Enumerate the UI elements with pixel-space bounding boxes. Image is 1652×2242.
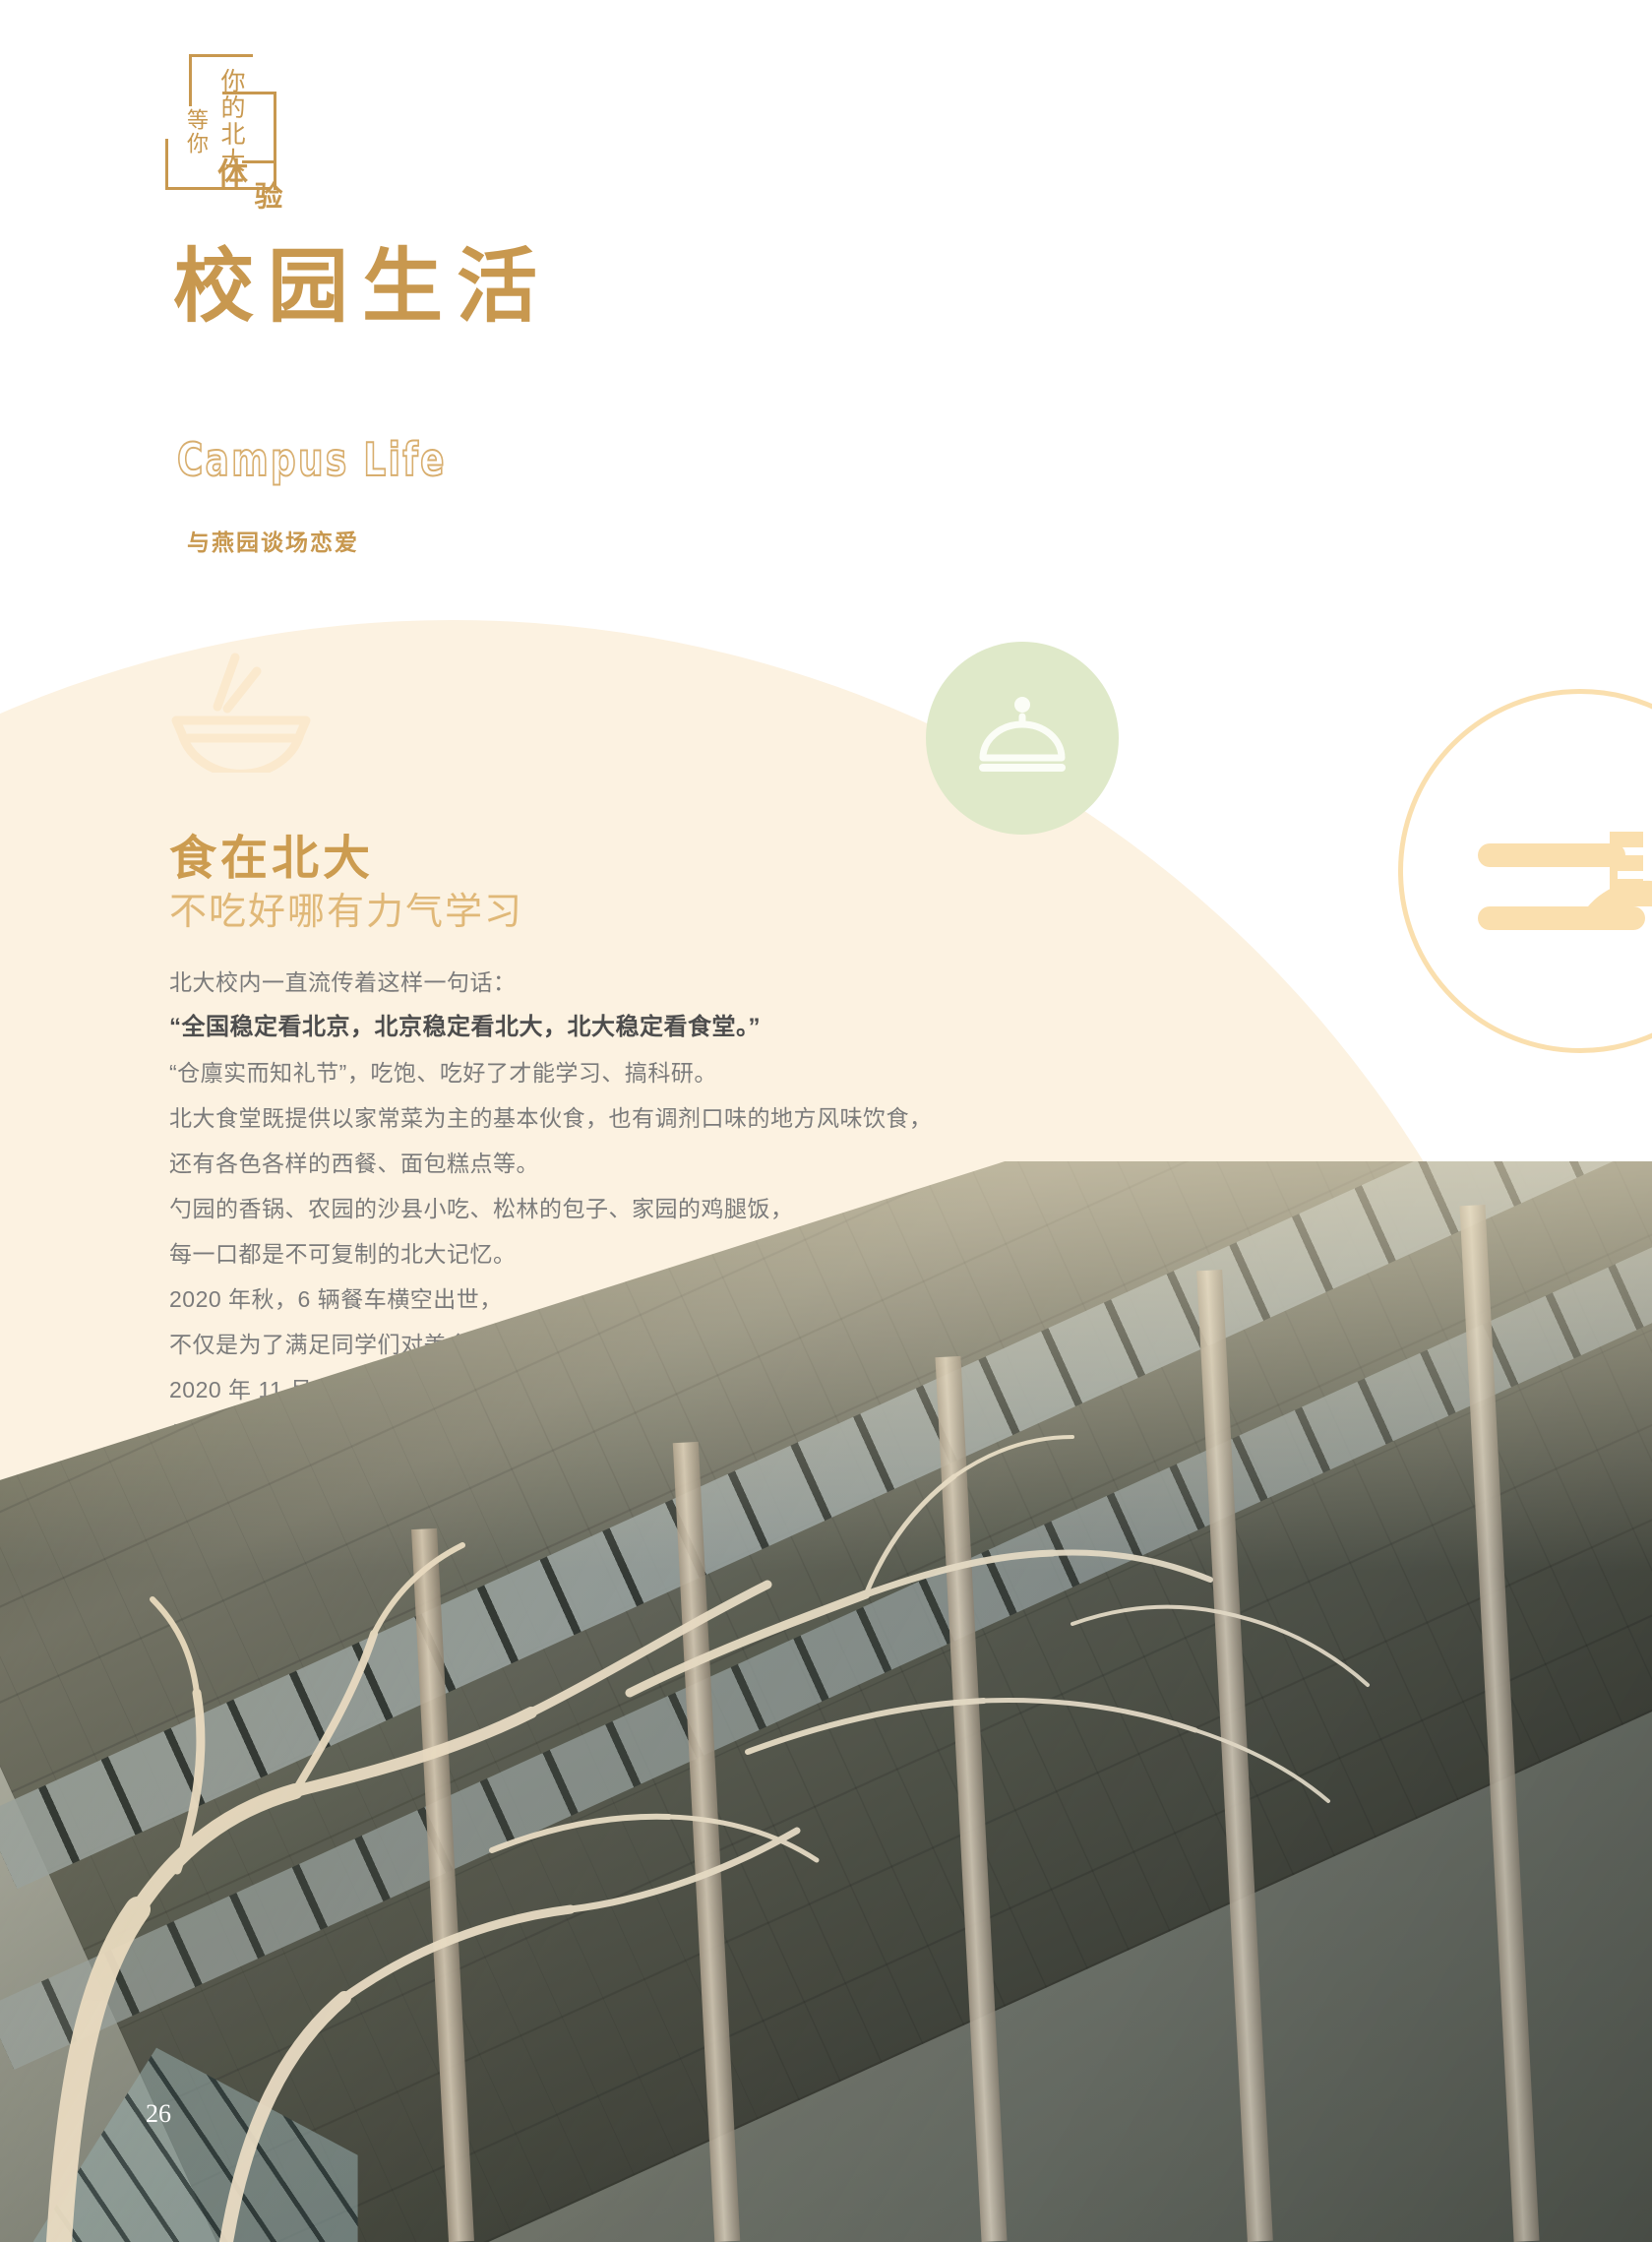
logo-text-line-2: 等你 (185, 108, 207, 156)
logo-text-line-4: 验 (251, 181, 279, 212)
brand-logo-mark: 你的北大 等你 体 验 (165, 54, 274, 187)
body-line: 北大校内一直流传着这样一句话： (169, 960, 1330, 1005)
section-title: 食在北大 (169, 819, 374, 888)
brochure-page: 你的北大 等你 体 验 校园生活 Campus Life 与燕园谈场恋爱 (0, 0, 1652, 2242)
food-cloche-icon-badge (926, 642, 1119, 835)
body-line: “仓廪实而知礼节”，吃饱、吃好了才能学习、搞科研。 (169, 1050, 1330, 1095)
fork-knife-icon-badge (1398, 689, 1652, 1053)
page-kicker: 与燕园谈场恋爱 (187, 524, 359, 557)
logo-text-line-3: 体 (214, 157, 245, 190)
food-cloche-icon (963, 679, 1081, 797)
noodle-bowl-icon (162, 640, 320, 773)
fork-knife-icon (1462, 753, 1652, 989)
body-line: “全国稳定看北京，北京稳定看北大，北大稳定看食堂。” (169, 1005, 1330, 1050)
page-title: 校园生活 (173, 220, 551, 338)
page-number: 26 (146, 2099, 171, 2129)
page-title-english: Campus Life (177, 433, 447, 486)
body-line: 北大食堂既提供以家常菜为主的基本伙食，也有调剂口味的地方风味饮食， (169, 1095, 1330, 1141)
section-subtitle: 不吃好哪有力气学习 (169, 881, 523, 935)
